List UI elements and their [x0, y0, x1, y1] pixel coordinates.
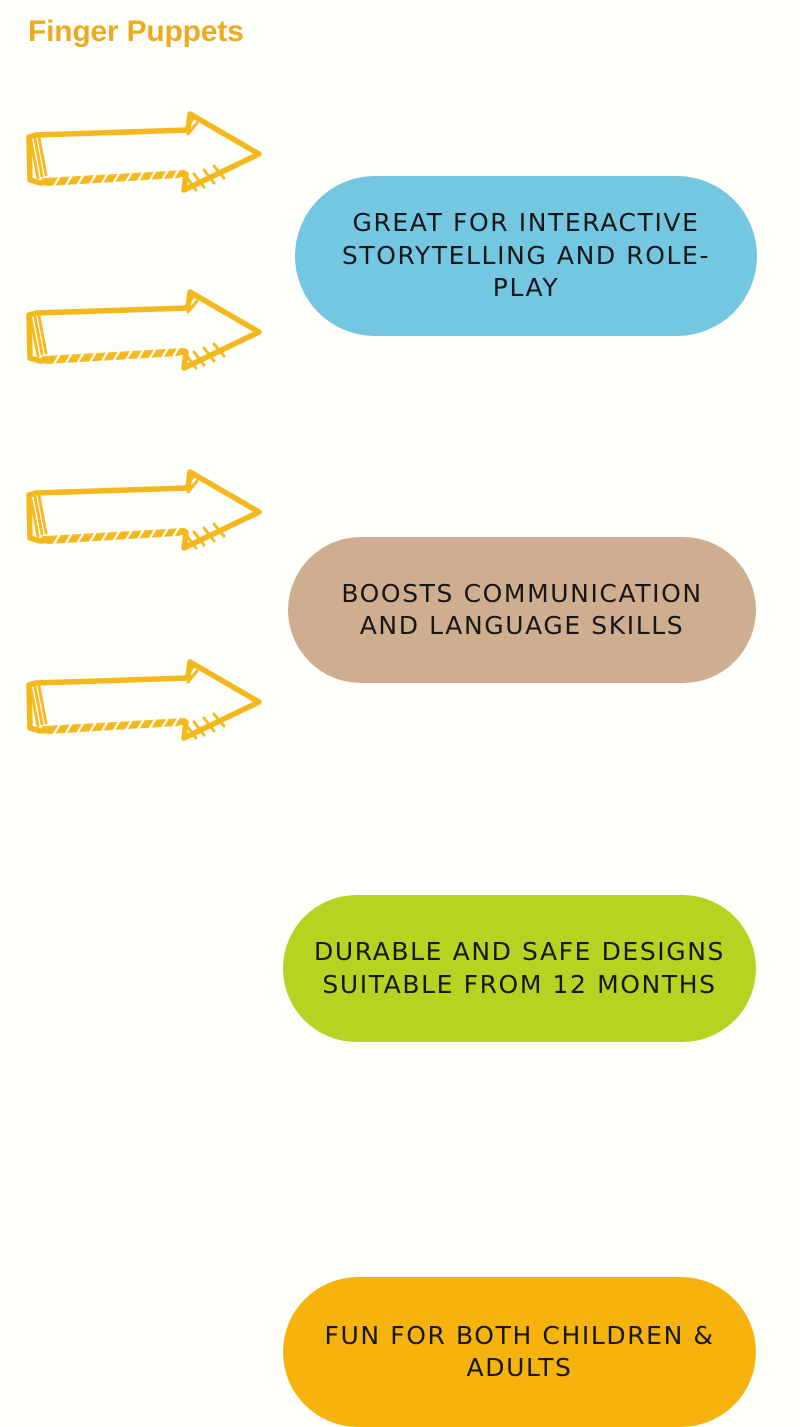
- hand-drawn-right-arrow-icon: [18, 462, 276, 558]
- feature-text: Boosts communication and language skills: [314, 578, 730, 643]
- feature-row: Durable and safe designs suitable from 1…: [0, 462, 800, 558]
- hand-drawn-right-arrow-icon: [18, 652, 276, 748]
- feature-text: Durable and safe designs suitable from 1…: [309, 936, 730, 1001]
- feature-row: Fun for both children & adults: [0, 652, 800, 748]
- infographic-canvas: Finger Puppets: [0, 0, 800, 800]
- feature-pill: Fun for both children & adults: [283, 1277, 756, 1427]
- hand-drawn-right-arrow-icon: [18, 104, 276, 200]
- feature-row: Boosts communication and language skills: [0, 282, 800, 378]
- feature-row: Great for interactive storytelling and r…: [0, 104, 800, 200]
- page-title: Finger Puppets: [28, 14, 244, 50]
- feature-text: Fun for both children & adults: [309, 1320, 730, 1385]
- feature-pill: Durable and safe designs suitable from 1…: [283, 895, 756, 1042]
- hand-drawn-right-arrow-icon: [18, 282, 276, 378]
